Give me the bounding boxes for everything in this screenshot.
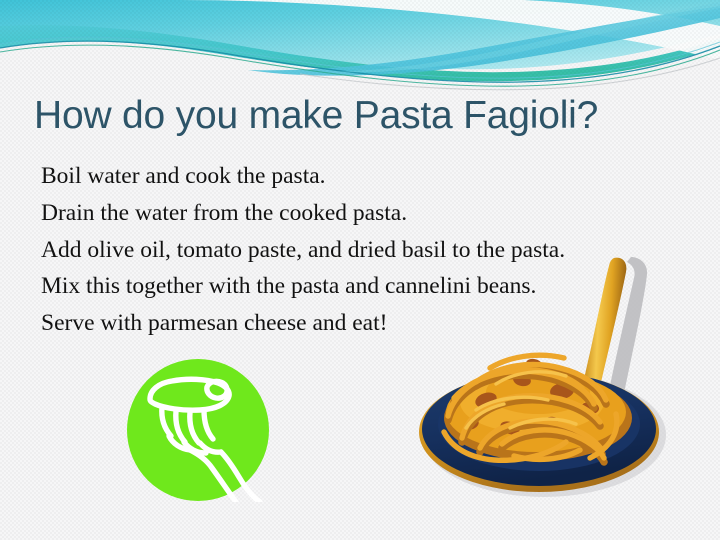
presentation-slide: How do you make Pasta Fagioli? Boil wate… (0, 0, 720, 540)
body-line-2: Drain the water from the cooked pasta. (41, 195, 701, 232)
body-line-1: Boil water and cook the pasta. (41, 158, 701, 195)
spaghetti-fork-badge (126, 358, 270, 502)
slide-title: How do you make Pasta Fagioli? (34, 93, 702, 139)
spaghetti-plate-illustration (414, 252, 669, 508)
cyan-wave-banner (0, 0, 720, 92)
